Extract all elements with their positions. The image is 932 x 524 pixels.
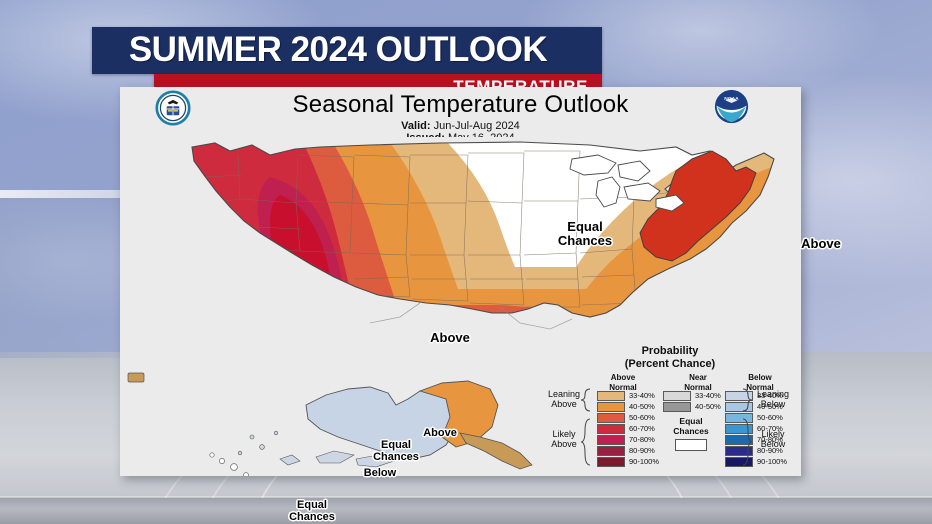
map-label-above-west: Above <box>405 331 495 345</box>
legend-above-normal-swatch <box>597 446 625 456</box>
legend-above-normal-row: 33-40% <box>597 391 655 400</box>
legend-above-normal-swatch <box>597 402 625 412</box>
legend-above-normal-swatch <box>597 424 625 434</box>
noaa-logo: NOAA <box>714 89 749 124</box>
probability-legend: Probability (Percent Chance) Above Norma… <box>535 345 801 470</box>
legend-above-normal-row: 80-90% <box>597 446 655 455</box>
map-label-alaska-above: Above <box>410 428 470 440</box>
legend-above-normal-label: 33-40% <box>629 391 655 400</box>
legend-below-normal-row: 90-100% <box>725 457 787 466</box>
banner-title: SUMMER 2024 OUTLOOK <box>92 32 584 67</box>
legend-above-normal-label: 90-100% <box>629 457 659 466</box>
puerto-rico-inset <box>128 373 144 382</box>
legend-side-label-leaning-above: Leaning Above <box>537 389 591 410</box>
legend-side-label-leaning-below: Leaning Below <box>746 389 800 410</box>
legend-side-label-likely-below: Likely Below <box>746 429 800 450</box>
graphic-title: Seasonal Temperature Outlook <box>120 91 801 119</box>
legend-above-normal-row: 40-50% <box>597 402 655 411</box>
legend-near-normal-label: 33-40% <box>695 391 721 400</box>
legend-column-header-above-normal: Above Normal <box>594 373 652 392</box>
legend-column-header-near-normal: Near Normal <box>669 373 727 392</box>
legend-near-normal-label: 40-50% <box>695 402 721 411</box>
legend-side-label-likely-above: Likely Above <box>537 429 591 450</box>
legend-equal-chances-swatch <box>675 439 707 451</box>
legend-above-normal-label: 50-60% <box>629 413 655 422</box>
map-label-above-northeast: Above <box>786 237 856 251</box>
legend-above-normal-row: 50-60% <box>597 413 655 422</box>
legend-above-normal-row: 70-80% <box>597 435 655 444</box>
studio-desk-bar <box>0 498 932 524</box>
legend-below-normal-row: 50-60% <box>725 413 783 422</box>
legend-above-normal-swatch <box>597 435 625 445</box>
legend-above-normal-label: 70-80% <box>629 435 655 444</box>
legend-above-normal-label: 60-70% <box>629 424 655 433</box>
banner-title-bar: SUMMER 2024 OUTLOOK <box>92 27 602 74</box>
legend-below-normal-swatch <box>725 457 753 467</box>
legend-above-normal-row: 60-70% <box>597 424 655 433</box>
valid-label: Valid: <box>401 120 430 132</box>
valid-value: Jun-Jul-Aug 2024 <box>434 120 520 132</box>
map-label-hawaii-equal-chances: Equal Chances <box>272 500 352 523</box>
floor-seam-line <box>0 496 932 497</box>
legend-near-normal-swatch <box>663 402 691 412</box>
legend-near-normal-row: 33-40% <box>663 391 721 400</box>
valid-line: Valid: Jun-Jul-Aug 2024 <box>120 120 801 132</box>
legend-title: Probability (Percent Chance) <box>585 345 755 370</box>
legend-above-normal-row: 90-100% <box>597 457 659 466</box>
legend-below-normal-label: 90-100% <box>757 457 787 466</box>
national-weather-service-logo <box>155 90 191 126</box>
legend-above-normal-label: 40-50% <box>629 402 655 411</box>
legend-near-normal-row: 40-50% <box>663 402 721 411</box>
outlook-graphic-panel: Seasonal Temperature Outlook Valid: Jun-… <box>120 87 801 476</box>
map-label-alaska-below: Below <box>352 468 408 480</box>
legend-near-normal-swatch <box>663 391 691 401</box>
legend-above-normal-swatch <box>597 413 625 423</box>
legend-above-normal-label: 80-90% <box>629 446 655 455</box>
map-label-alaska-equal-chances: Equal Chances <box>357 440 435 463</box>
legend-below-normal-swatch <box>725 413 753 423</box>
map-label-equal-chances: Equal Chances <box>530 220 640 247</box>
legend-above-normal-swatch <box>597 391 625 401</box>
legend-above-normal-swatch <box>597 457 625 467</box>
legend-equal-chances-label: Equal Chances <box>663 417 719 437</box>
legend-below-normal-label: 50-60% <box>757 413 783 422</box>
noaa-logo-text: NOAA <box>724 96 739 102</box>
